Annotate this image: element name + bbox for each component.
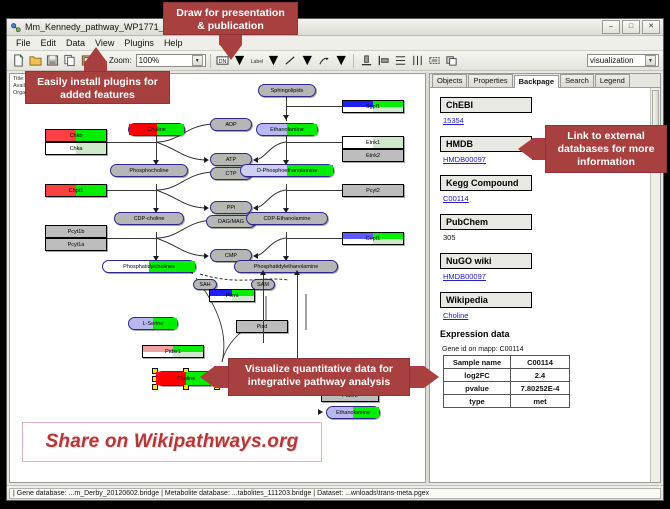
line-tool[interactable]: ▼ (282, 52, 315, 70)
db-name-nugo: NuGO wiki (440, 253, 532, 269)
db-entry-kegg: Kegg Compound C00114 (440, 173, 660, 203)
callout-visualize-arrow-left (200, 366, 215, 388)
node-choline-top[interactable]: Choline (128, 123, 185, 136)
arrowhead-up (294, 270, 300, 275)
node-l-serine-left[interactable]: L-Serine (128, 317, 178, 330)
group-icon[interactable] (426, 53, 442, 69)
zoom-combo[interactable]: 100% ▼ (136, 54, 206, 67)
node-pcyt1b[interactable]: Pcyt1b (45, 225, 107, 238)
interaction-icon[interactable] (316, 53, 332, 69)
menu-file[interactable]: File (11, 38, 36, 48)
maximize-button[interactable]: □ (622, 20, 640, 34)
callout-plugins-arrow (85, 47, 107, 62)
node-phosphocholine[interactable]: Phosphocholine (110, 164, 188, 177)
node-ethanolamine-top[interactable]: Ethanolamine (256, 123, 318, 136)
zoom-value: 100% (139, 56, 192, 65)
distribute-vertical-icon[interactable] (392, 53, 408, 69)
callout-link-stem (532, 138, 546, 160)
chevron-down-icon[interactable]: ▼ (333, 52, 349, 70)
interaction-tool[interactable]: ▼ (316, 52, 349, 70)
callout-plugins: Easily install plugins for added feature… (25, 71, 170, 104)
toolbar-separator (353, 54, 354, 68)
tab-properties[interactable]: Properties (468, 74, 512, 87)
share-callout: Share on Wikipathways.org (22, 422, 322, 462)
node-pcyt1a[interactable]: Pcyt1a (45, 238, 107, 251)
node-ptdsr1[interactable]: Ptdsr1 (142, 345, 204, 358)
svg-text:Label: Label (250, 59, 263, 65)
node-ethanolamine-bottom[interactable]: Ethanolamine (326, 406, 380, 419)
chevron-down-icon[interactable]: ▼ (192, 55, 203, 66)
callout-draw-arrow (220, 45, 242, 60)
arrowhead-right (204, 205, 209, 211)
callout-draw-stem (219, 35, 242, 45)
db-entry-pubchem: PubChem 305 (440, 212, 660, 242)
node-chpt1[interactable]: Chpt1 (45, 184, 107, 197)
node-cept1[interactable]: Cept1 (342, 232, 404, 245)
db-entry-wikipedia: Wikipedia Choline (440, 290, 660, 320)
expr-value: 2.4 (511, 369, 570, 382)
expr-value: 7.80252E-4 (511, 382, 570, 395)
arrowhead-right (318, 409, 323, 415)
chevron-down-icon[interactable]: ▼ (266, 52, 282, 70)
db-name-pubchem: PubChem (440, 214, 532, 230)
callout-link-arrow (518, 138, 533, 160)
toolbar-separator (210, 54, 211, 68)
node-ppi[interactable]: PPi (210, 201, 252, 214)
expr-key: Sample name (444, 356, 511, 369)
label-tool[interactable]: Label ▼ (249, 52, 282, 70)
window-buttons: – □ ✕ (602, 20, 660, 34)
table-row: log2FC 2.4 (444, 369, 570, 382)
close-button[interactable]: ✕ (642, 20, 660, 34)
db-entry-nugo: NuGO wiki HMDB00097 (440, 251, 660, 281)
arrowhead-up (260, 270, 266, 275)
callout-visualize-stem-left (214, 366, 229, 388)
expr-value: C00114 (511, 356, 570, 369)
expr-key: pvalue (444, 382, 511, 395)
tab-objects[interactable]: Objects (432, 74, 467, 87)
label-icon[interactable]: Label (249, 53, 265, 69)
expr-key: type (444, 395, 511, 408)
node-chka[interactable]: Chka (45, 142, 107, 155)
edge-sgpl1-catalysis (286, 106, 342, 107)
expr-value: met (511, 395, 570, 408)
db-link-nugo[interactable]: HMDB00097 (443, 272, 660, 281)
db-name-kegg: Kegg Compound (440, 175, 532, 191)
node-cdp-choline[interactable]: CDP-choline (114, 212, 184, 225)
zoom-label: Zoom: (109, 56, 132, 65)
expression-table: Sample name C00114 log2FC 2.4 pvalue 7.8… (443, 355, 570, 408)
node-chkb[interactable]: Chkb (45, 129, 107, 142)
visualization-value: visualization (590, 56, 645, 65)
table-row: type met (444, 395, 570, 408)
gene-id-line: Gene id on mapp: C00114 (442, 346, 660, 353)
save-icon[interactable] (44, 53, 60, 69)
node-o-phosphoethanolamine[interactable]: O-Phosphoethanolamine (240, 164, 334, 177)
node-cdp-ethanolamine[interactable]: CDP-Ethanolamine (246, 212, 328, 225)
window-titlebar: Mm_Kennedy_pathway_WP1771_45176.gpml – □… (7, 19, 663, 36)
arrowhead-right (204, 157, 209, 163)
node-etnk1[interactable]: Etnk1 (342, 136, 404, 149)
tab-legend[interactable]: Legend (595, 74, 630, 87)
chevron-down-icon[interactable]: ▼ (645, 55, 656, 66)
expr-key: log2FC (444, 369, 511, 382)
arrowhead-right (204, 253, 209, 259)
align-bottom-icon[interactable] (358, 53, 374, 69)
table-row: Sample name C00114 (444, 356, 570, 369)
menu-help[interactable]: Help (159, 38, 188, 48)
pathvisio-icon (10, 22, 21, 33)
db-name-wikipedia: Wikipedia (440, 292, 532, 308)
db-entry-chebi: ChEBI 15354 (440, 95, 660, 125)
line-icon[interactable] (282, 53, 298, 69)
table-row: pvalue 7.80252E-4 (444, 382, 570, 395)
arrowhead-left (253, 157, 258, 163)
node-sgpl1[interactable]: Sgpl1 (342, 100, 404, 113)
expression-data-title: Expression data (440, 329, 660, 339)
visualization-combo[interactable]: visualization ▼ (587, 54, 659, 67)
minimize-button[interactable]: – (602, 20, 620, 34)
callout-visualize-arrow-right (424, 366, 439, 388)
distribute-horizontal-icon[interactable] (409, 53, 425, 69)
cofactor-arcs-ethanolamine (256, 114, 296, 274)
menu-edit[interactable]: Edit (36, 38, 62, 48)
pathway-canvas[interactable]: Title: Availa Organi (9, 73, 426, 483)
screenshot-root: Mm_Kennedy_pathway_WP1771_45176.gpml – □… (0, 0, 670, 509)
arrowhead-left (253, 205, 258, 211)
callout-visualize: Visualize quantitative data for integrat… (228, 358, 410, 396)
tab-search[interactable]: Search (560, 74, 594, 87)
copy-icon[interactable] (61, 53, 77, 69)
align-left-icon[interactable] (375, 53, 391, 69)
db-link-chebi[interactable]: 15354 (443, 116, 660, 125)
chevron-down-icon[interactable]: ▼ (299, 52, 315, 70)
arrowhead-left (253, 253, 258, 259)
new-file-icon[interactable] (10, 53, 26, 69)
db-link-kegg[interactable]: C00114 (443, 194, 660, 203)
node-etnk2[interactable]: Etnk2 (342, 149, 404, 162)
status-box: | Gene database: ...m_Derby_20120602.bri… (9, 488, 661, 499)
callout-visualize-stem-right (409, 366, 424, 388)
tab-backpage[interactable]: Backpage (514, 75, 559, 88)
db-link-wikipedia[interactable]: Choline (443, 311, 660, 320)
node-pcyt2[interactable]: Pcyt2 (342, 184, 404, 197)
menu-plugins[interactable]: Plugins (119, 38, 159, 48)
callout-draw: Draw for presentation & publication (163, 2, 298, 35)
node-pemt[interactable]: Pemt (209, 289, 255, 302)
callout-link: Link to external databases for more info… (545, 125, 667, 173)
status-text: | Gene database: ...m_Derby_20120602.bri… (13, 490, 429, 497)
db-name-chebi: ChEBI (440, 97, 532, 113)
node-sphingolipids[interactable]: Sphingolipids (258, 84, 316, 97)
statusbar: | Gene database: ...m_Derby_20120602.bri… (7, 485, 663, 500)
db-value-pubchem: 305 (443, 233, 660, 242)
open-folder-icon[interactable] (27, 53, 43, 69)
side-tabstrip: Objects Properties Backpage Search Legen… (430, 74, 660, 88)
bring-front-icon[interactable] (443, 53, 459, 69)
node-pisd[interactable]: Pisd (236, 320, 288, 333)
node-adp[interactable]: ADP (210, 118, 252, 131)
